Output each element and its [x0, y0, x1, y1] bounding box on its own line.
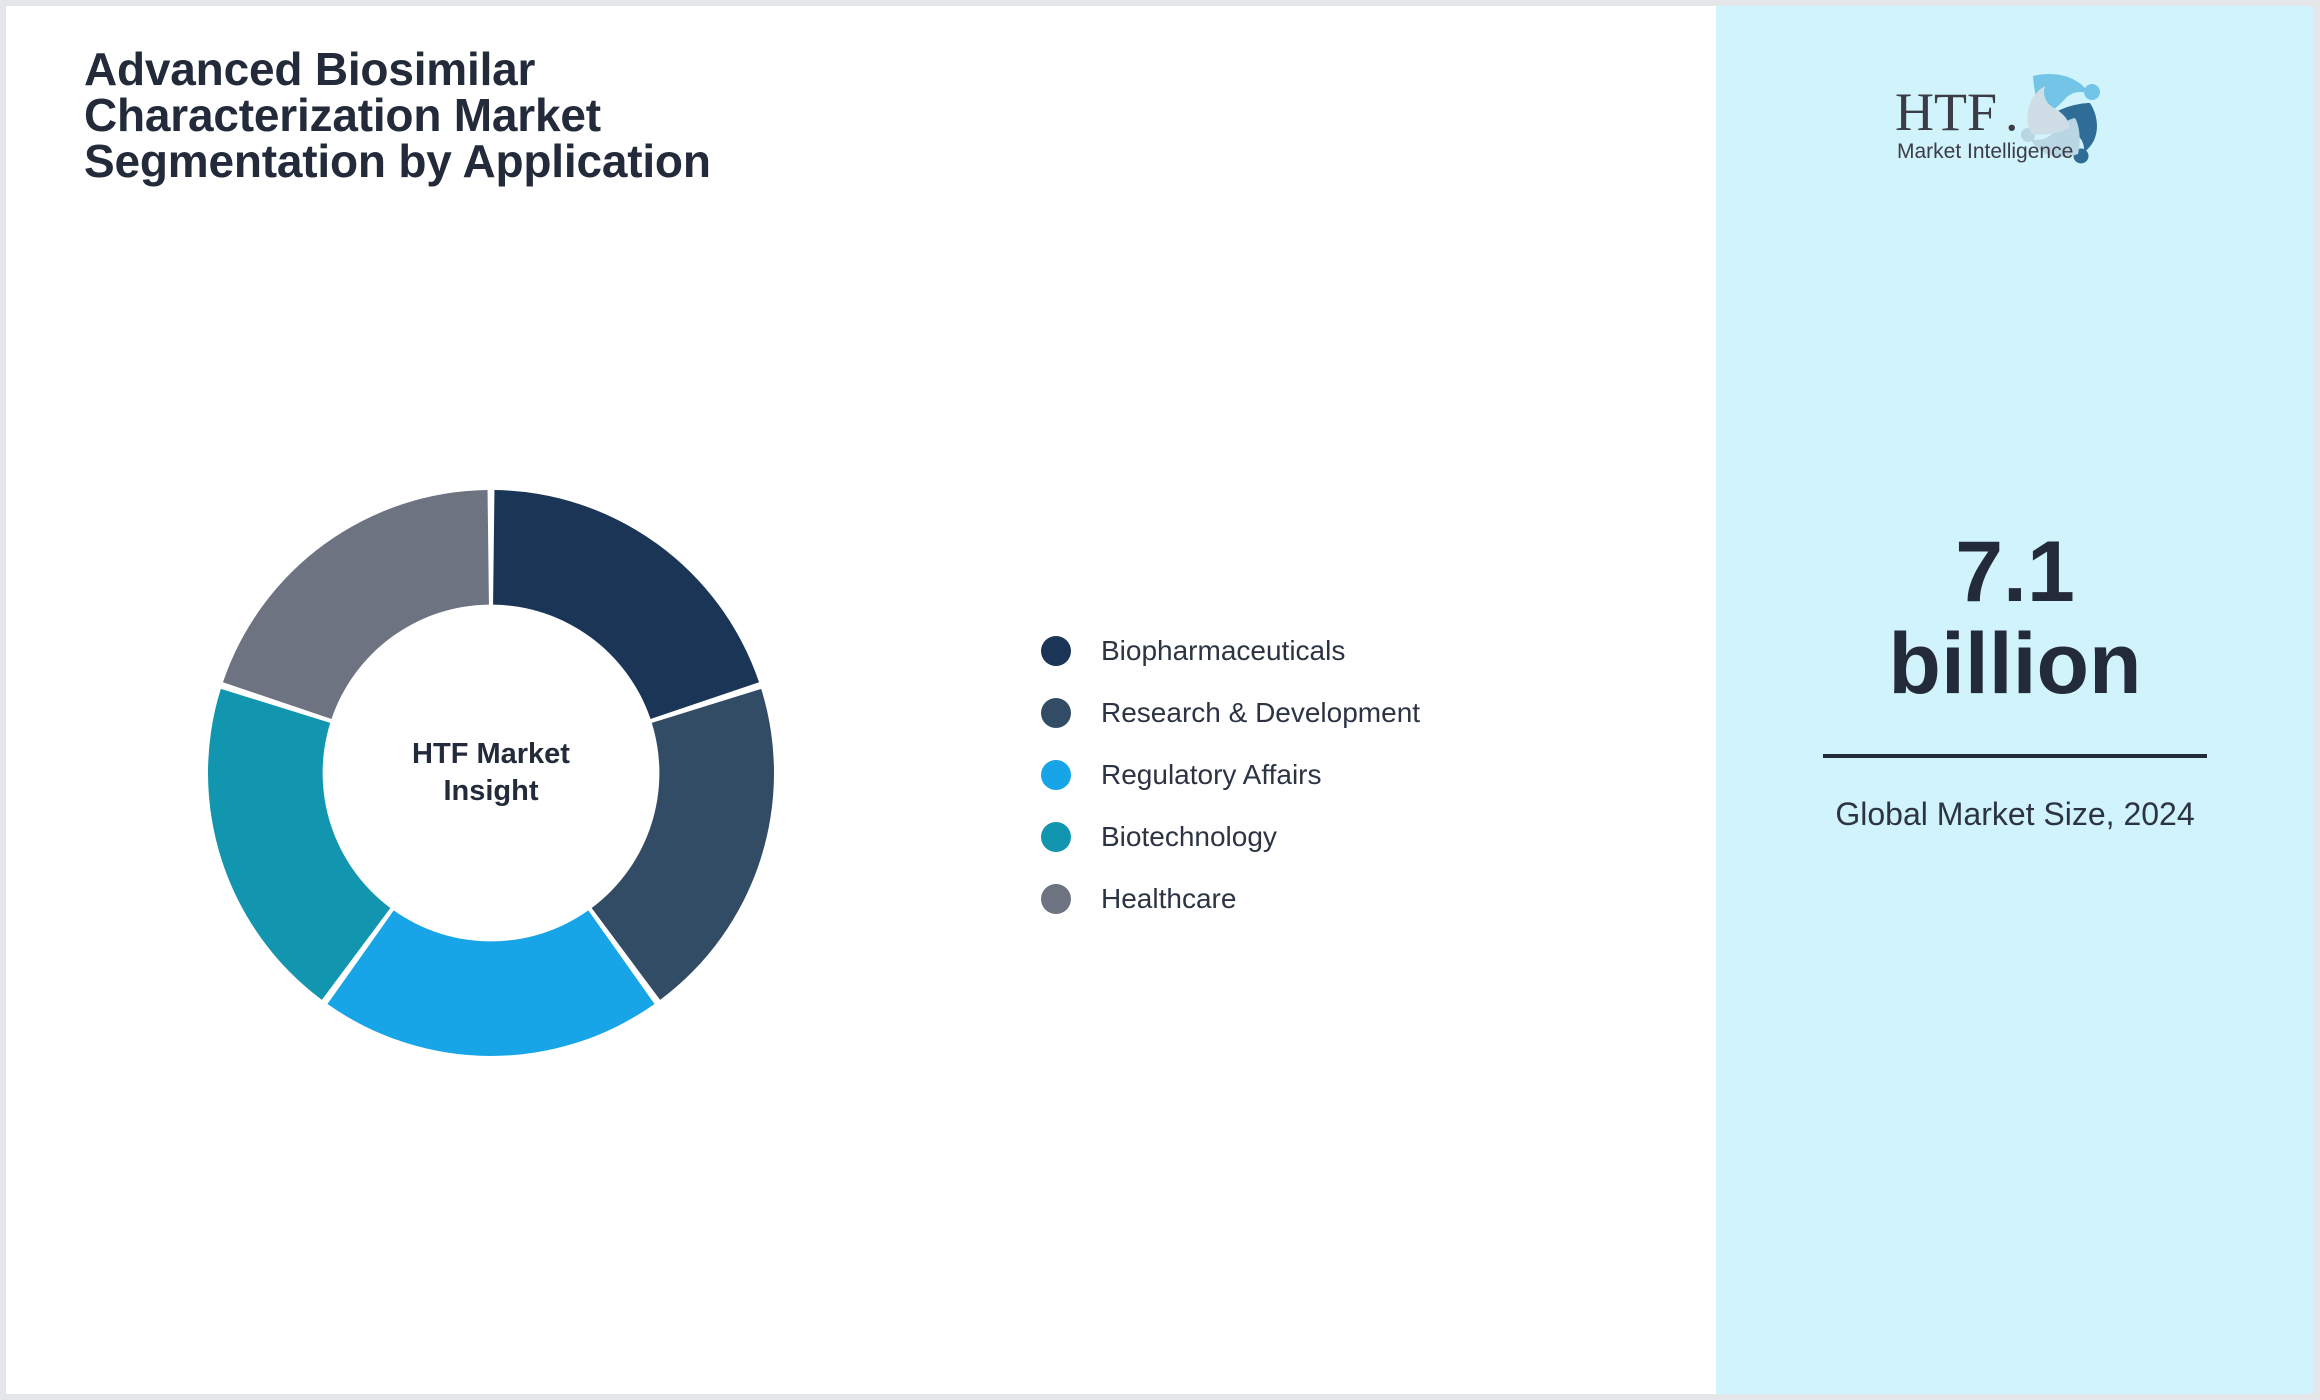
- donut-slice[interactable]: [327, 910, 654, 1056]
- logo-wordmark: HTF: [1895, 82, 1997, 142]
- logo-dot: .: [2005, 82, 2019, 142]
- legend-item-label: Regulatory Affairs: [1101, 759, 1322, 791]
- legend-item-biotechnology[interactable]: Biotechnology: [1041, 806, 1420, 868]
- donut-chart-svg: [206, 488, 776, 1058]
- legend-item-label: Biotechnology: [1101, 821, 1277, 853]
- legend-swatch-icon: [1041, 636, 1071, 666]
- legend-swatch-icon: [1041, 822, 1071, 852]
- chart-legend: Biopharmaceuticals Research & Developmen…: [1041, 620, 1420, 930]
- legend-item-healthcare[interactable]: Healthcare: [1041, 868, 1420, 930]
- page-title: Advanced Biosimilar Characterization Mar…: [84, 46, 984, 184]
- legend-swatch-icon: [1041, 884, 1071, 914]
- legend-item-biopharmaceuticals[interactable]: Biopharmaceuticals: [1041, 620, 1420, 682]
- htf-market-intelligence-logo: HTF . Market Intelligence: [1885, 68, 2145, 164]
- logo-svg: HTF . Market Intelligence: [1885, 68, 2145, 164]
- infographic-root: Advanced Biosimilar Characterization Mar…: [0, 0, 2320, 1400]
- market-size-caption: Global Market Size, 2024: [1815, 794, 2215, 835]
- legend-swatch-icon: [1041, 698, 1071, 728]
- legend-item-regulatory-affairs[interactable]: Regulatory Affairs: [1041, 744, 1420, 806]
- legend-swatch-icon: [1041, 760, 1071, 790]
- right-summary-panel: HTF . Market Intelligence 7.1 billion Gl…: [1716, 6, 2314, 1394]
- legend-item-research-development[interactable]: Research & Development: [1041, 682, 1420, 744]
- market-size-stat: 7.1 billion Global Market Size, 2024: [1815, 526, 2215, 835]
- donut-slice[interactable]: [592, 689, 774, 1000]
- left-content-panel: Advanced Biosimilar Characterization Mar…: [6, 6, 1716, 1394]
- stat-divider: [1823, 754, 2207, 758]
- market-size-value: 7.1 billion: [1815, 526, 2215, 710]
- donut-chart: HTF Market Insight: [206, 488, 776, 1058]
- logo-tagline: Market Intelligence: [1897, 140, 2073, 163]
- donut-slice[interactable]: [493, 490, 759, 719]
- legend-item-label: Research & Development: [1101, 697, 1420, 729]
- legend-item-label: Biopharmaceuticals: [1101, 635, 1345, 667]
- donut-slice[interactable]: [208, 689, 390, 1000]
- legend-item-label: Healthcare: [1101, 883, 1236, 915]
- donut-slice[interactable]: [223, 490, 489, 719]
